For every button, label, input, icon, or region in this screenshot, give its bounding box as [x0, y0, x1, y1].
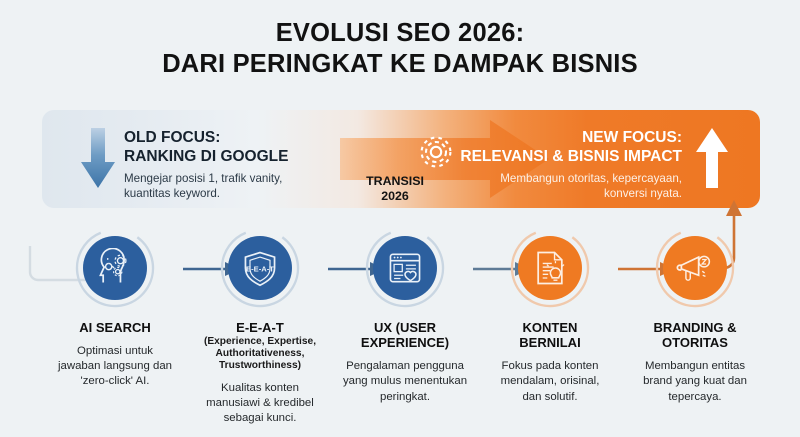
desc-line-1: Fokus pada konten: [502, 360, 599, 372]
new-focus-heading-1: NEW FOCUS:: [582, 129, 682, 146]
desc-line-3: sebagai kunci.: [224, 412, 297, 424]
step-icon-holder: E-E-A-T: [185, 228, 335, 310]
new-focus-heading-2: RELEVANSI & BISNIS IMPACT: [460, 148, 682, 165]
page-title: EVOLUSI SEO 2026: DARI PERINGKAT KE DAMP…: [0, 18, 800, 80]
step-icon-holder: [475, 228, 625, 310]
old-focus-desc-2: kuantitas keyword.: [124, 187, 220, 200]
desc-line-1: Pengalaman pengguna: [346, 360, 464, 372]
step-subtitle: (Experience, Expertise,Authoritativeness…: [185, 336, 335, 372]
head-gears-icon: [83, 236, 147, 300]
step-title: KONTENBERNILAI: [475, 320, 625, 350]
shield-eeat-icon: E-E-A-T: [228, 236, 292, 300]
step-description: Optimasi untuk jawaban langsung dan 'zer…: [40, 344, 190, 389]
new-focus-desc-1: Membangun otoritas, kepercayaan,: [500, 172, 682, 185]
desc-line-3: tepercaya.: [668, 391, 721, 403]
desc-line-2: jawaban langsung dan: [58, 360, 172, 372]
step-ux[interactable]: UX (USEREXPERIENCE) Pengalaman pengguna …: [330, 228, 480, 405]
step-eeat[interactable]: E-E-A-T E-E-A-T (Experience, Expertise,A…: [185, 228, 335, 426]
desc-line-2: manusiawi & kredibel: [206, 397, 314, 409]
title-line-1: EVOLUSI SEO 2026:: [0, 18, 800, 49]
desc-line-3: peringkat.: [380, 391, 430, 403]
desc-line-3: 'zero-click' AI.: [81, 375, 150, 387]
step-title: UX (USEREXPERIENCE): [330, 320, 480, 350]
step-ai-search[interactable]: AI SEARCH Optimasi untuk jawaban langsun…: [40, 228, 190, 389]
transition-label: TRANSISI 2026: [330, 174, 460, 204]
step-icon-holder: [620, 228, 770, 310]
step-konten-bernilai[interactable]: KONTENBERNILAI Fokus pada konten mendala…: [475, 228, 625, 405]
step-description: Pengalaman pengguna yang mulus menentuka…: [330, 359, 480, 404]
step-title: AI SEARCH: [40, 320, 190, 335]
old-focus-desc-1: Mengejar posisi 1, trafik vanity,: [124, 172, 282, 185]
svg-text:E-E-A-T: E-E-A-T: [246, 265, 274, 274]
desc-line-2: mendalam, orisinal,: [501, 375, 600, 387]
step-title: E-E-A-T: [185, 320, 335, 335]
title-line-2: DARI PERINGKAT KE DAMPAK BISNIS: [0, 49, 800, 80]
arrow-down-icon: [78, 128, 118, 190]
arrow-up-icon: [694, 126, 730, 188]
new-focus-desc-2: konversi nyata.: [604, 187, 682, 200]
desc-line-1: Optimasi untuk: [77, 345, 153, 357]
desc-line-2: brand yang kuat dan: [643, 375, 747, 387]
infographic-canvas: EVOLUSI SEO 2026: DARI PERINGKAT KE DAMP…: [0, 0, 800, 437]
old-focus-heading-1: OLD FOCUS:: [124, 129, 220, 146]
step-title: BRANDING &OTORITAS: [620, 320, 770, 350]
transition-label-2: 2026: [381, 189, 409, 203]
desc-line-1: Kualitas konten: [221, 382, 299, 394]
desc-line-2: yang mulus menentukan: [343, 375, 467, 387]
desc-line-3: dan solutif.: [522, 391, 577, 403]
step-branding-otoritas[interactable]: BRANDING &OTORITAS Membangun entitas bra…: [620, 228, 770, 405]
step-description: Fokus pada konten mendalam, orisinal, da…: [475, 359, 625, 404]
old-focus-heading-2: RANKING DI GOOGLE: [124, 148, 288, 165]
step-icon-holder: [40, 228, 190, 310]
step-description: Membangun entitas brand yang kuat dan te…: [620, 359, 770, 404]
megaphone-icon: [663, 236, 727, 300]
step-description: Kualitas konten manusiawi & kredibel seb…: [185, 381, 335, 426]
document-bulb-icon: [518, 236, 582, 300]
desc-line-1: Membangun entitas: [645, 360, 745, 372]
browser-heart-icon: [373, 236, 437, 300]
step-icon-holder: [330, 228, 480, 310]
transition-label-1: TRANSISI: [366, 174, 424, 188]
